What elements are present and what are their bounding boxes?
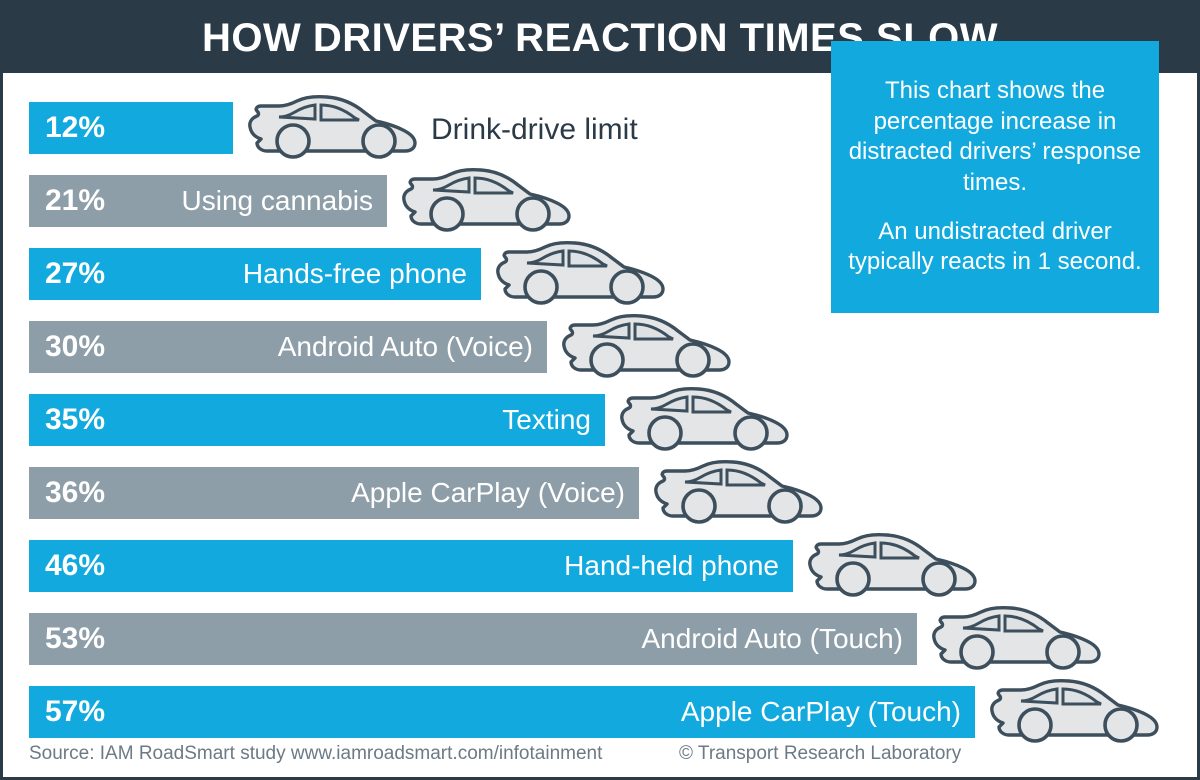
infographic-root: HOW DRIVERS’ REACTION TIMES SLOW 12%Drin… (0, 0, 1200, 780)
bar-category-label: Hand-held phone (564, 552, 779, 580)
bar-value-label: 36% (45, 478, 105, 508)
source-credit: Source: IAM RoadSmart study www.iamroads… (29, 743, 602, 765)
chart-row: 53%Android Auto (Touch) (3, 608, 1200, 670)
car-icon (559, 312, 737, 382)
bar-value-label: 12% (45, 113, 105, 143)
bar-value-label: 27% (45, 259, 105, 289)
car-icon (399, 166, 577, 236)
bar-value-label: 21% (45, 186, 105, 216)
bar-category-label: Apple CarPlay (Touch) (681, 698, 961, 726)
chart-row: 46%Hand-held phone (3, 535, 1200, 597)
bar-category-label: Android Auto (Voice) (278, 333, 533, 361)
car-icon (651, 458, 829, 528)
callout-box: This chart shows the percentage increase… (831, 41, 1159, 313)
bar-4: 30%Android Auto (Voice) (29, 321, 547, 373)
copyright-credit: © Transport Research Laboratory (679, 743, 961, 765)
bar-value-label: 35% (45, 405, 105, 435)
car-icon (929, 604, 1107, 674)
bar-category-label: Apple CarPlay (Voice) (351, 479, 625, 507)
bar-value-label: 46% (45, 551, 105, 581)
bar-6: 36%Apple CarPlay (Voice) (29, 467, 639, 519)
bar-category-label: Hands-free phone (243, 260, 467, 288)
bar-category-label: Android Auto (Touch) (642, 625, 904, 653)
bar-category-label: Texting (502, 406, 591, 434)
bar-2: 21%Using cannabis (29, 175, 387, 227)
callout-paragraph-1: This chart shows the percentage increase… (847, 76, 1143, 199)
car-icon (617, 385, 795, 455)
car-icon (245, 93, 423, 163)
car-icon (805, 531, 983, 601)
bar-1: 12% (29, 102, 233, 154)
bar-value-label: 57% (45, 697, 105, 727)
bar-7: 46%Hand-held phone (29, 540, 793, 592)
bar-category-label: Using cannabis (182, 187, 373, 215)
chart-row: 35%Texting (3, 389, 1200, 451)
bar-category-label: Drink-drive limit (431, 115, 638, 145)
bar-5: 35%Texting (29, 394, 605, 446)
car-icon (493, 239, 671, 309)
chart-row: 30%Android Auto (Voice) (3, 316, 1200, 378)
bar-value-label: 30% (45, 332, 105, 362)
footer: Source: IAM RoadSmart study www.iamroads… (3, 731, 1200, 777)
callout-paragraph-2: An undistracted driver typically reacts … (847, 217, 1143, 278)
chart-row: 36%Apple CarPlay (Voice) (3, 462, 1200, 524)
bar-8: 53%Android Auto (Touch) (29, 613, 917, 665)
bar-3: 27%Hands-free phone (29, 248, 481, 300)
bar-value-label: 53% (45, 624, 105, 654)
